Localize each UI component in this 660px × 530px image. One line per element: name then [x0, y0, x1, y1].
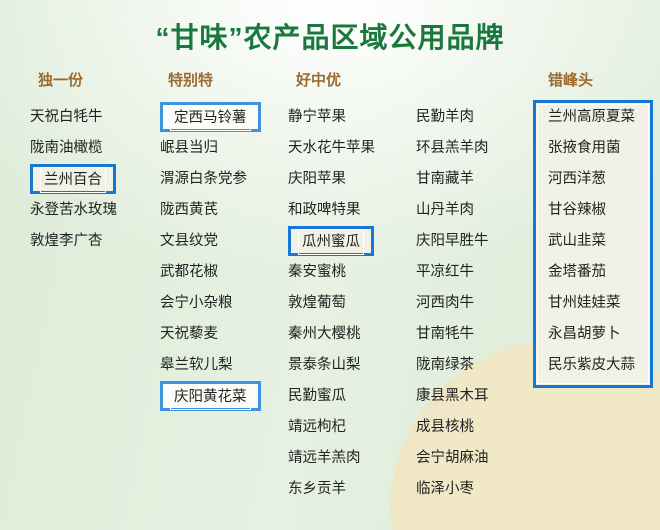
list-item[interactable]: 兰州高原夏菜	[548, 102, 635, 133]
column-header-haozhongyou: 好中优	[296, 70, 375, 92]
list-item[interactable]: 天水花牛苹果	[288, 133, 375, 164]
list-item[interactable]: 张掖食用菌	[548, 133, 635, 164]
poster-canvas: “甘味”农产品区域公用品牌 独一份 天祝白牦牛 陇南油橄榄 兰州百合 永登苦水玫…	[0, 0, 660, 530]
list-item[interactable]: 会宁胡麻油	[416, 443, 489, 474]
list-item[interactable]: 永登苦水玫瑰	[30, 195, 117, 226]
list-item[interactable]: 景泰条山梨	[288, 350, 375, 381]
list-item[interactable]: 平凉红牛	[416, 257, 489, 288]
list-item-row: 兰州百合	[30, 164, 117, 195]
list-item[interactable]: 文县纹党	[160, 226, 261, 257]
list-item-row: 瓜州蜜瓜	[288, 226, 375, 257]
list-item[interactable]: 敦煌葡萄	[288, 288, 375, 319]
list-item[interactable]: 金塔番茄	[548, 257, 635, 288]
list-item[interactable]: 甘谷辣椒	[548, 195, 635, 226]
list-item[interactable]: 东乡贡羊	[288, 474, 375, 505]
list-item-label: 兰州百合	[40, 167, 106, 193]
list-item[interactable]: 庆阳早胜牛	[416, 226, 489, 257]
list-item[interactable]: 武山韭菜	[548, 226, 635, 257]
list-item[interactable]: 环县羔羊肉	[416, 133, 489, 164]
list-item[interactable]: 靖远羊羔肉	[288, 443, 375, 474]
list-item[interactable]: 静宁苹果	[288, 102, 375, 133]
list-item[interactable]: 康县黑木耳	[416, 381, 489, 412]
list-item[interactable]: 甘州娃娃菜	[548, 288, 635, 319]
list-item[interactable]: 甘南藏羊	[416, 164, 489, 195]
list-item[interactable]: 武都花椒	[160, 257, 261, 288]
list-item[interactable]: 陇南油橄榄	[30, 133, 117, 164]
list-item[interactable]: 渭源白条党参	[160, 164, 261, 195]
list-item[interactable]: 天祝白牦牛	[30, 102, 117, 133]
list-item[interactable]: 河西洋葱	[548, 164, 635, 195]
column-duyifen: 独一份 天祝白牦牛 陇南油橄榄 兰州百合 永登苦水玫瑰 敦煌李广杏	[30, 70, 117, 257]
list-item[interactable]: 甘南牦牛	[416, 319, 489, 350]
list-item[interactable]: 山丹羊肉	[416, 195, 489, 226]
list-item[interactable]: 秦州大樱桃	[288, 319, 375, 350]
column-cuofengtou: 错峰头 兰州高原夏菜 张掖食用菌 河西洋葱 甘谷辣椒 武山韭菜 金塔番茄 甘州娃…	[540, 70, 635, 381]
list-item[interactable]: 秦安蜜桃	[288, 257, 375, 288]
list-item[interactable]: 陇南绿茶	[416, 350, 489, 381]
column-header-duyifen: 独一份	[38, 70, 117, 92]
page-title: “甘味”农产品区域公用品牌	[0, 16, 660, 56]
list-item[interactable]: 民勤蜜瓜	[288, 381, 375, 412]
list-item[interactable]: 成县核桃	[416, 412, 489, 443]
item-list-haozhongyou: 静宁苹果 天水花牛苹果 庆阳苹果 和政啤特果 瓜州蜜瓜 秦安蜜桃 敦煌葡萄 秦州…	[288, 102, 375, 505]
list-item[interactable]: 会宁小杂粮	[160, 288, 261, 319]
list-item[interactable]: 敦煌李广杏	[30, 226, 117, 257]
column-header-cuofengtou: 错峰头	[548, 70, 635, 92]
list-item[interactable]: 民勤羊肉	[416, 102, 489, 133]
list-item[interactable]: 和政啤特果	[288, 195, 375, 226]
list-item-label: 定西马铃薯	[170, 105, 251, 131]
list-item-row: 定西马铃薯	[160, 102, 261, 133]
list-item-highlighted[interactable]: 庆阳黄花菜	[160, 381, 261, 411]
list-item-label: 庆阳黄花菜	[170, 384, 251, 410]
list-item[interactable]: 民乐紫皮大蒜	[548, 350, 635, 381]
item-list-cuofengtou: 兰州高原夏菜 张掖食用菌 河西洋葱 甘谷辣椒 武山韭菜 金塔番茄 甘州娃娃菜 永…	[540, 102, 635, 381]
list-item[interactable]: 皋兰软儿梨	[160, 350, 261, 381]
list-item-highlighted[interactable]: 兰州百合	[30, 164, 116, 194]
list-item[interactable]: 靖远枸杞	[288, 412, 375, 443]
list-item[interactable]: 永昌胡萝卜	[548, 319, 635, 350]
list-item[interactable]: 天祝藜麦	[160, 319, 261, 350]
list-item[interactable]: 河西肉牛	[416, 288, 489, 319]
column-header-empty	[416, 70, 489, 92]
column-header-tebiete: 特别特	[168, 70, 261, 92]
list-item[interactable]: 岷县当归	[160, 133, 261, 164]
list-item-highlighted[interactable]: 定西马铃薯	[160, 102, 261, 132]
column-haozhongyou-continued: 民勤羊肉 环县羔羊肉 甘南藏羊 山丹羊肉 庆阳早胜牛 平凉红牛 河西肉牛 甘南牦…	[416, 70, 489, 505]
list-item-row: 庆阳黄花菜	[160, 381, 261, 412]
list-item[interactable]: 庆阳苹果	[288, 164, 375, 195]
list-item-label: 瓜州蜜瓜	[298, 229, 364, 255]
column-haozhongyou: 好中优 静宁苹果 天水花牛苹果 庆阳苹果 和政啤特果 瓜州蜜瓜 秦安蜜桃 敦煌葡…	[288, 70, 375, 505]
item-list-tebiete: 定西马铃薯 岷县当归 渭源白条党参 陇西黄芪 文县纹党 武都花椒 会宁小杂粮 天…	[160, 102, 261, 412]
list-item-highlighted[interactable]: 瓜州蜜瓜	[288, 226, 374, 256]
item-list-duyifen: 天祝白牦牛 陇南油橄榄 兰州百合 永登苦水玫瑰 敦煌李广杏	[30, 102, 117, 257]
list-item[interactable]: 临泽小枣	[416, 474, 489, 505]
list-item[interactable]: 陇西黄芪	[160, 195, 261, 226]
item-list-haozhongyou-continued: 民勤羊肉 环县羔羊肉 甘南藏羊 山丹羊肉 庆阳早胜牛 平凉红牛 河西肉牛 甘南牦…	[416, 102, 489, 505]
column-tebiete: 特别特 定西马铃薯 岷县当归 渭源白条党参 陇西黄芪 文县纹党 武都花椒 会宁小…	[160, 70, 261, 412]
